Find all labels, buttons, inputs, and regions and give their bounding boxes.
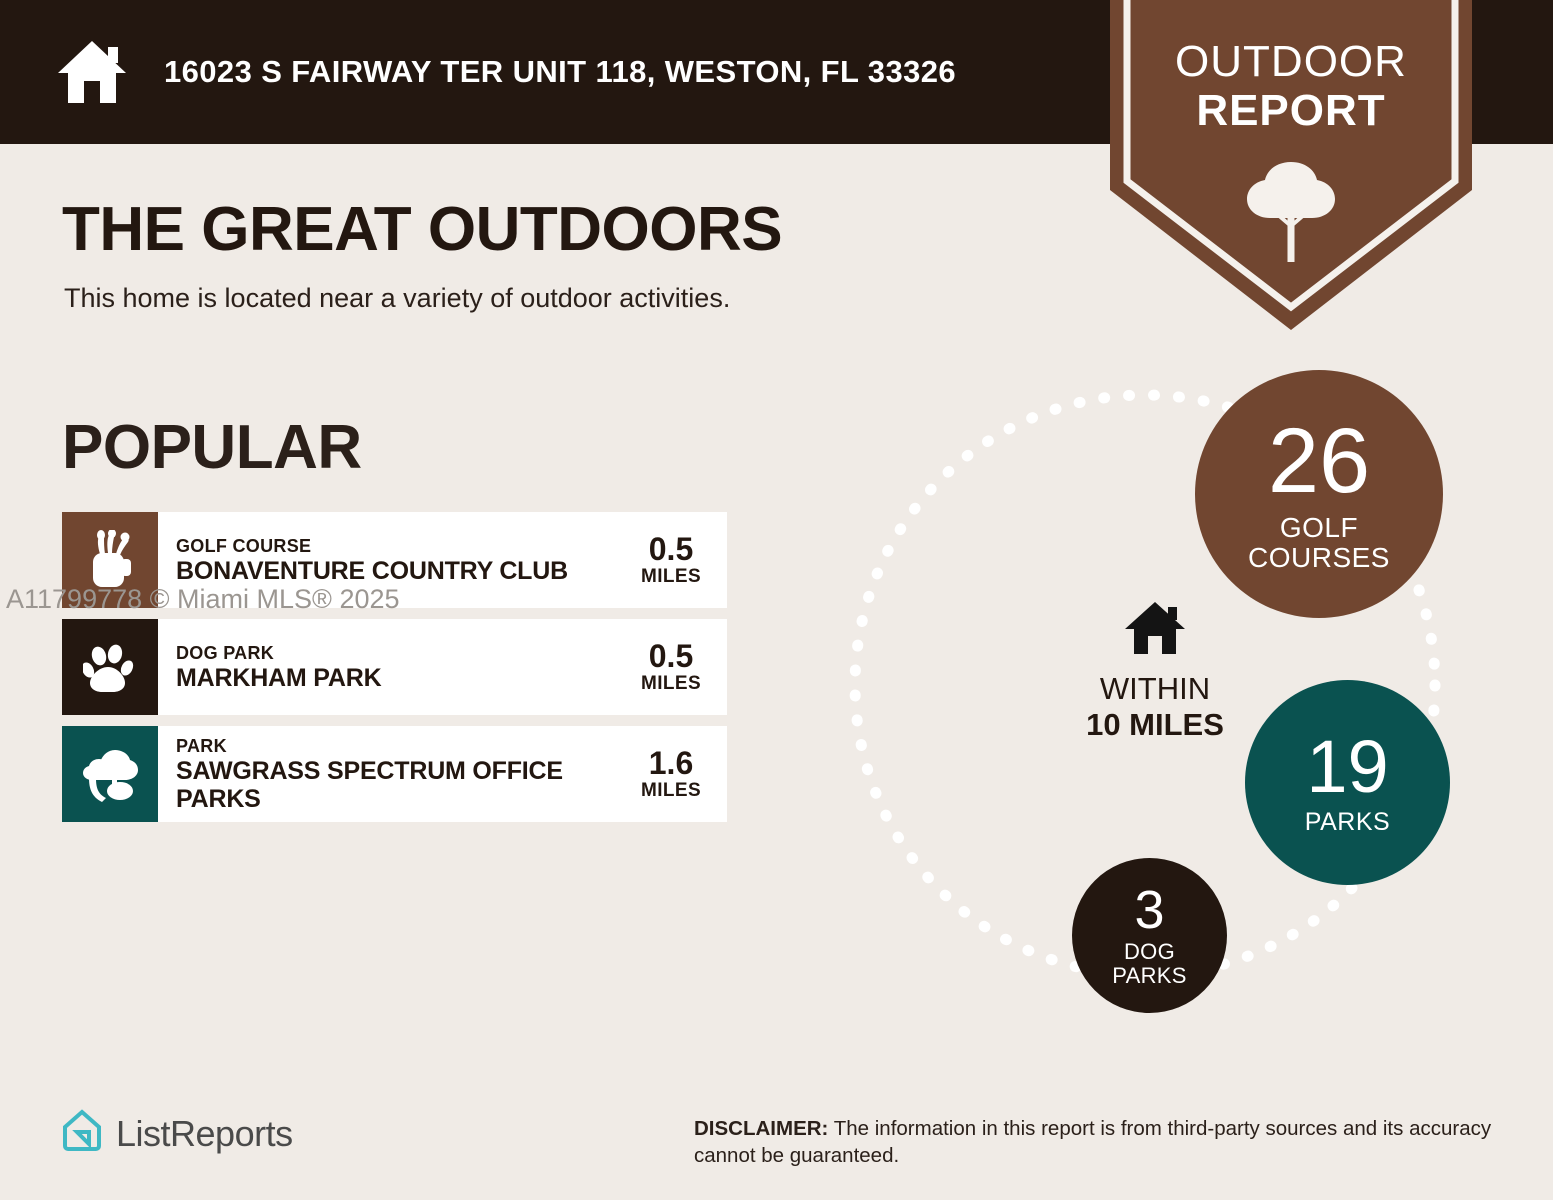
stat-label-line1: PARKS — [1305, 809, 1390, 836]
stat-label: PARKS — [1305, 809, 1390, 836]
stat-circle-dog-parks: 3 DOG PARKS — [1072, 858, 1227, 1013]
poi-icon-tile — [62, 512, 158, 608]
home-icon — [1065, 600, 1245, 661]
property-address: 16023 S FAIRWAY TER UNIT 118, WESTON, FL… — [164, 54, 956, 90]
page-subtitle: This home is located near a variety of o… — [64, 283, 730, 314]
poi-name: SAWGRASS SPECTRUM OFFICE PARKS — [176, 757, 609, 813]
listreports-logo[interactable]: ListReports — [60, 1108, 293, 1159]
poi-category: DOG PARK — [176, 642, 609, 664]
poi-icon-tile — [62, 619, 158, 715]
disclaimer-label: DISCLAIMER: — [694, 1117, 828, 1140]
poi-distance-unit: MILES — [641, 566, 701, 588]
stat-label-line2: COURSES — [1248, 543, 1390, 573]
page-title: THE GREAT OUTDOORS — [62, 194, 782, 265]
listreports-house-tag-icon — [60, 1108, 104, 1159]
poi-distance: 0.5 MILES — [615, 512, 727, 608]
list-item[interactable]: PARK SAWGRASS SPECTRUM OFFICE PARKS 1.6 … — [62, 726, 727, 822]
list-item[interactable]: DOG PARK MARKHAM PARK 0.5 MILES — [62, 619, 727, 715]
home-icon — [56, 39, 128, 105]
listreports-logo-text: ListReports — [116, 1113, 293, 1155]
within-label-line2: 10 MILES — [1065, 707, 1245, 743]
poi-category: GOLF COURSE — [176, 535, 609, 557]
popular-list: GOLF COURSE BONAVENTURE COUNTRY CLUB 0.5… — [62, 512, 727, 833]
stat-circle-golf-courses: 26 GOLF COURSES — [1195, 370, 1443, 618]
stat-value: 26 — [1268, 415, 1370, 507]
poi-distance-value: 0.5 — [649, 639, 693, 673]
poi-icon-tile — [62, 726, 158, 822]
stat-label-line1: GOLF — [1248, 513, 1390, 543]
golf-bag-icon — [83, 530, 137, 590]
list-item[interactable]: GOLF COURSE BONAVENTURE COUNTRY CLUB 0.5… — [62, 512, 727, 608]
diagram-center-label: WITHIN 10 MILES — [1065, 600, 1245, 743]
poi-distance-value: 1.6 — [649, 746, 693, 780]
poi-text-block: GOLF COURSE BONAVENTURE COUNTRY CLUB — [158, 512, 615, 608]
stat-circle-parks: 19 PARKS — [1245, 680, 1450, 885]
poi-text-block: PARK SAWGRASS SPECTRUM OFFICE PARKS — [158, 726, 615, 822]
stat-label: GOLF COURSES — [1248, 513, 1390, 573]
poi-distance-value: 0.5 — [649, 532, 693, 566]
stat-value: 19 — [1306, 730, 1388, 804]
stat-label: DOG PARKS — [1112, 940, 1186, 987]
amenities-diagram: WITHIN 10 MILES 26 GOLF COURSES 19 PARKS… — [800, 330, 1553, 1050]
stat-label-line2: PARKS — [1112, 964, 1186, 988]
disclaimer: DISCLAIMER: The information in this repo… — [694, 1115, 1494, 1169]
stat-value: 3 — [1134, 883, 1164, 937]
section-title-popular: POPULAR — [62, 412, 362, 483]
poi-distance: 0.5 MILES — [615, 619, 727, 715]
poi-category: PARK — [176, 735, 609, 757]
outdoor-report-badge: OUTDOOR REPORT — [1110, 0, 1472, 330]
poi-text-block: DOG PARK MARKHAM PARK — [158, 619, 615, 715]
paw-print-icon — [83, 640, 137, 694]
poi-name: BONAVENTURE COUNTRY CLUB — [176, 557, 609, 585]
poi-distance-unit: MILES — [641, 780, 701, 802]
poi-distance: 1.6 MILES — [615, 726, 727, 822]
within-label-line1: WITHIN — [1065, 671, 1245, 707]
poi-distance-unit: MILES — [641, 673, 701, 695]
stat-label-line1: DOG — [1112, 940, 1186, 964]
trees-icon — [82, 746, 138, 802]
poi-name: MARKHAM PARK — [176, 664, 609, 692]
